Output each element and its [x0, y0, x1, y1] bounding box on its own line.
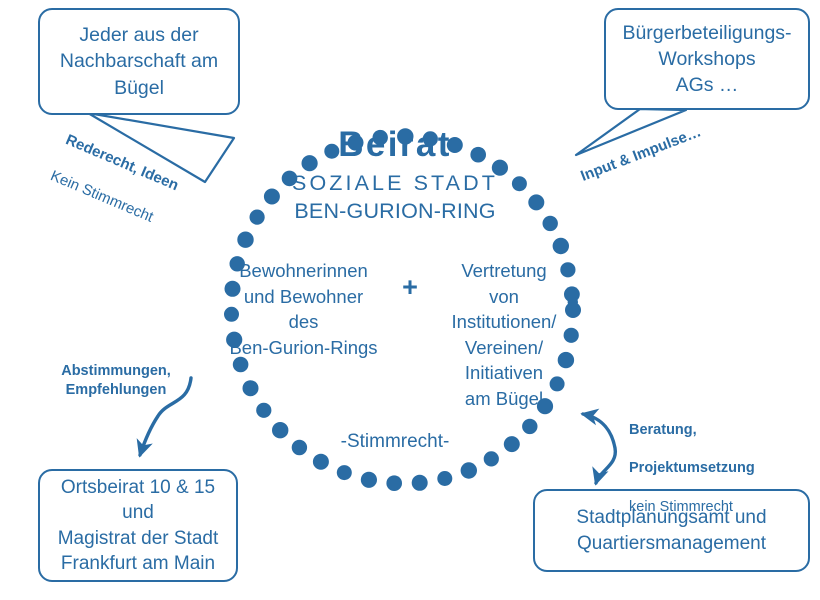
speech-bubble-neighbourhood-text: Jeder aus der Nachbarschaft am Bügel [40, 22, 238, 100]
connector-label-beratung: Beratung, Projektumsetzung kein Stimmrec… [629, 402, 755, 536]
ring-subtitle-program: SOZIALE STADT [225, 168, 565, 199]
connector-label-abstimmungen: Abstimmungen, Empfehlungen [46, 362, 186, 400]
page-title: Beirat [225, 127, 565, 162]
box-ortsbeirat-magistrat[interactable]: Ortsbeirat 10 & 15 und Magistrat der Sta… [38, 469, 238, 582]
box-ortsbeirat-magistrat-text: Ortsbeirat 10 & 15 und Magistrat der Sta… [40, 475, 236, 577]
connector-label-beratung-line2: Projektumsetzung [629, 459, 755, 478]
speech-bubble-workshops-text: Bürgerbeteiligungs- Workshops AGs … [606, 20, 808, 98]
diagram-canvas: Beirat SOZIALE STADT BEN-GURION-RING Bew… [0, 0, 820, 600]
ring-title-block: Beirat SOZIALE STADT BEN-GURION-RING [225, 127, 565, 224]
ring-membership-columns: Bewohnerinnen und Bewohner des Ben-Gurio… [215, 258, 580, 411]
arrow-beratung [583, 414, 615, 483]
plus-icon: + [391, 258, 429, 301]
speech-bubble-workshops[interactable]: Bürgerbeteiligungs- Workshops AGs … [604, 8, 810, 110]
connector-label-beratung-line1: Beratung, [629, 421, 755, 440]
ring-voting-note: -Stimmrecht- [295, 431, 495, 453]
ring-group-institutions: Vertretung von Institutionen/ Vereinen/ … [429, 258, 579, 411]
speech-bubble-neighbourhood[interactable]: Jeder aus der Nachbarschaft am Bügel [38, 8, 240, 115]
ring-group-residents: Bewohnerinnen und Bewohner des Ben-Gurio… [216, 258, 391, 360]
connector-label-beratung-line3: kein Stimmrecht [629, 498, 755, 517]
ring-subtitle-location: BEN-GURION-RING [225, 199, 565, 225]
